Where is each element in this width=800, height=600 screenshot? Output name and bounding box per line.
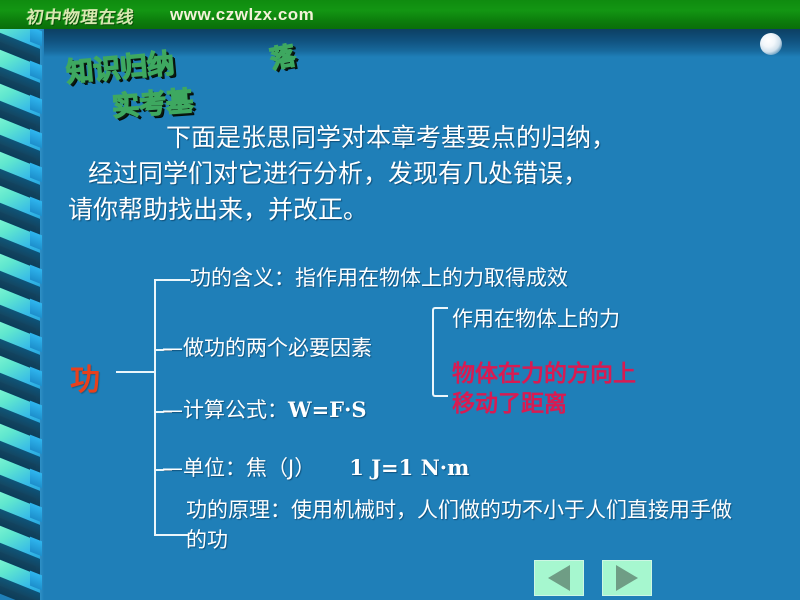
factor-correct-text: 作用在物体上的力 [452,303,620,333]
site-banner: 初中物理在线 www.czwlzx.com [0,0,800,29]
root-node-gong: 功 [70,355,100,399]
page-title: 知识归纳 落 实考基 [58,38,388,120]
intro-line-3: 请你帮助找出来，并改正。 [64,192,764,228]
intro-line-2: 经过同学们对它进行分析，发现有几处错误， [64,156,764,192]
unit-equation: 1 J=1 N·m [349,455,469,480]
factors-bracket [432,307,448,397]
ribbon-segment [0,29,40,49]
node-unit: —单位：焦（J）1 J=1 N·m [162,453,469,483]
root-connector-line [116,371,156,373]
glow-orb-icon [760,33,782,55]
title-part-3: 实考基 [111,79,195,124]
formula-expression: W=F·S [288,397,367,422]
intro-line-1: 下面是张思同学对本章考基要点的归纳， [64,120,764,156]
ribbon-segment [0,159,40,185]
ribbon-segment [0,91,40,117]
node-unit-label: —单位：焦（J） [162,456,315,480]
node-formula-label: —计算公式： [162,398,288,422]
site-url: www.czwlzx.com [170,5,314,25]
branch-line-1 [154,279,190,281]
factor-error-line-2: 移动了距离 [452,389,636,419]
triangle-right-icon [616,565,638,591]
node-two-factors: —做功的两个必要因素 [162,333,372,363]
branch-line-5 [154,534,190,536]
node-definition: 功的含义：指作用在物体上的力取得成效 [190,263,568,293]
slide-canvas: 初中物理在线 www.czwlzx.com 知识归纳 落 实考基 下面是张思同学… [0,0,800,600]
ribbon-segment [0,193,40,219]
triangle-left-icon [548,565,570,591]
prev-slide-button[interactable] [534,560,584,596]
navigation-bar [534,560,664,594]
factor-error-text: 物体在力的方向上 移动了距离 [452,359,636,419]
ribbon-segment [0,227,40,253]
factor-error-line-1: 物体在力的方向上 [452,359,636,389]
node-formula: —计算公式：W=F·S [162,395,367,425]
diagram-spine-line [154,279,156,535]
site-logo-icon: 初中物理在线 [5,3,158,27]
intro-paragraph: 下面是张思同学对本章考基要点的归纳， 经过同学们对它进行分析，发现有几处错误， … [64,120,764,228]
node-principle: 功的原理：使用机械时，人们做的功不小于人们直接用手做的功 [186,495,746,555]
next-slide-button[interactable] [602,560,652,596]
ribbon-segment [0,57,40,83]
outline-diagram: 功 功的含义：指作用在物体上的力取得成效 —做功的两个必要因素 —计算公式：W=… [0,255,800,555]
title-part-2: 落 [267,36,298,76]
ribbon-segment [0,567,40,593]
ribbon-segment [0,125,40,151]
